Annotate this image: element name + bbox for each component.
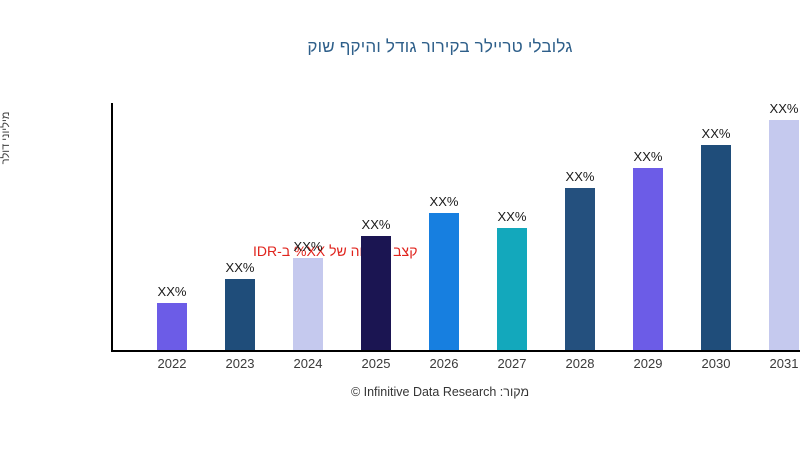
bar-group: XX%2026 [370,103,438,350]
bar-group: XX%2024 [234,103,302,350]
chart-title: גלובלי טריילר בקירור גודל והיקף שוק [0,37,800,57]
bar-value-label: XX% [234,239,302,254]
x-axis-tick-label: 2022 [98,356,166,371]
plot-area: קצב צמיחה של XX% ב-IDR XX%2022XX%2023XX%… [71,103,783,350]
x-axis-line [71,350,777,352]
bar-group: XX%2025 [302,103,370,350]
x-axis-tick-label: 2031 [710,356,778,371]
bar[interactable] [457,228,487,350]
bar-value-label: XX% [302,217,370,232]
bar-group: XX%2027 [438,103,506,350]
x-axis-tick-label: 2030 [642,356,710,371]
bar-value-label: XX% [574,149,642,164]
bar-group: XX%2022 [98,103,166,350]
y-axis-line [71,103,73,350]
bar[interactable] [593,168,623,350]
x-axis-tick-label: 2029 [574,356,642,371]
bar-value-label: XX% [98,284,166,299]
bar-group: XX%2028 [506,103,574,350]
bar-value-label: XX% [710,101,778,116]
x-axis-tick-label: 2024 [234,356,302,371]
bar-value-label: XX% [166,260,234,275]
bar[interactable] [525,188,555,350]
bar[interactable] [253,258,283,350]
bar-group: XX%2031 [710,103,778,350]
bar-group: XX%2023 [166,103,234,350]
x-axis-tick-label: 2028 [506,356,574,371]
source-note: מקור: Infinitive Data Research © [0,385,800,399]
bar[interactable] [321,236,351,350]
bar[interactable] [117,303,147,350]
bar[interactable] [661,145,691,350]
bar-value-label: XX% [642,126,710,141]
x-axis-tick-label: 2027 [438,356,506,371]
x-axis-tick-label: 2023 [166,356,234,371]
x-axis-tick-label: 2025 [302,356,370,371]
bar-value-label: XX% [438,209,506,224]
bar-group: XX%2030 [642,103,710,350]
bar-value-label: XX% [506,169,574,184]
bar-group: XX%2029 [574,103,642,350]
chart-container: גלובלי טריילר בקירור גודל והיקף שוק מילי… [0,0,800,450]
bar[interactable] [389,213,419,350]
x-axis-tick-label: 2026 [370,356,438,371]
bar-value-label: XX% [370,194,438,209]
bar[interactable] [185,279,215,350]
bar[interactable] [729,120,759,350]
